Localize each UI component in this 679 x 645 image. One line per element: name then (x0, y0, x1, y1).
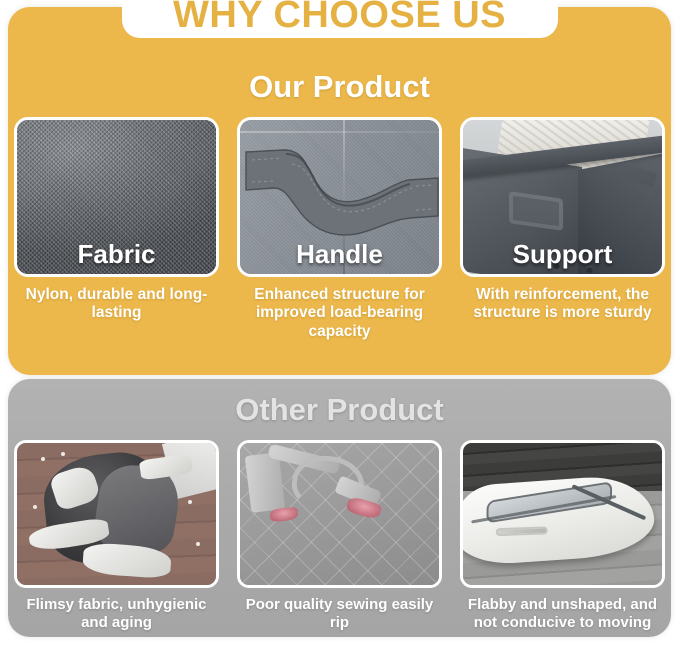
caption-fabric: Nylon, durable and long-lasting (14, 286, 219, 323)
gray-quilted-bag-ripped-handles-image (240, 443, 439, 585)
ripped-seam-tear (269, 507, 298, 523)
torn-dark-bag-image (17, 443, 216, 585)
card-support: Support With reinforcement, the structur… (460, 117, 665, 341)
card-flabby-unshaped: Flabby and unshaped, and not conducive t… (460, 440, 665, 631)
caption-flimsy-fabric: Flimsy fabric, unhygienic and aging (14, 596, 219, 631)
caption-support: With reinforcement, the structure is mor… (460, 286, 665, 323)
debris-fleck (188, 500, 192, 504)
our-product-card-row: Fabric Nylon, durable and long-lasting (14, 117, 665, 341)
debris-fleck (41, 457, 45, 461)
thumbnail-support: Support (460, 117, 665, 277)
other-product-heading: Other Product (8, 392, 671, 428)
card-handle: Handle Enhanced structure for improved l… (237, 117, 442, 341)
collapsed-white-bag (460, 473, 657, 566)
collapsed-white-storage-bag-image (463, 443, 662, 585)
thumbnail-handle: Handle (237, 117, 442, 277)
thumbnail-flabby-unshaped (460, 440, 665, 588)
card-fabric: Fabric Nylon, durable and long-lasting (14, 117, 219, 341)
caption-handle: Enhanced structure for improved load-bea… (237, 286, 442, 341)
debris-fleck (33, 505, 37, 509)
caption-poor-sewing: Poor quality sewing easily rip (237, 596, 442, 631)
page-title: WHY CHOOSE US (0, 0, 679, 35)
thumbnail-poor-sewing (237, 440, 442, 588)
bag-handle-strap (245, 453, 285, 513)
card-flimsy-fabric: Flimsy fabric, unhygienic and aging (14, 440, 219, 631)
other-product-card-row: Flimsy fabric, unhygienic and aging Poor… (14, 440, 665, 631)
debris-fleck (61, 452, 65, 456)
why-choose-us-infographic: Our Product Other Product WHY CHOOSE US … (0, 0, 679, 645)
thumbnail-fabric: Fabric (14, 117, 219, 277)
white-linen-contents (494, 117, 652, 173)
title-band: WHY CHOOSE US (0, 0, 679, 48)
label-holder-frame (509, 192, 563, 232)
thumbnail-label-fabric: Fabric (17, 239, 216, 270)
debris-fleck (196, 542, 200, 546)
bag-handle-strap (495, 526, 547, 536)
our-product-heading: Our Product (8, 69, 671, 105)
card-poor-sewing: Poor quality sewing easily rip (237, 440, 442, 631)
thumbnail-flimsy-fabric (14, 440, 219, 588)
thumbnail-label-handle: Handle (240, 239, 439, 270)
box-reinforced-rim (460, 134, 665, 178)
side-handle-strap (621, 165, 657, 187)
thumbnail-label-support: Support (463, 239, 662, 270)
caption-flabby-unshaped: Flabby and unshaped, and not conducive t… (460, 596, 665, 631)
